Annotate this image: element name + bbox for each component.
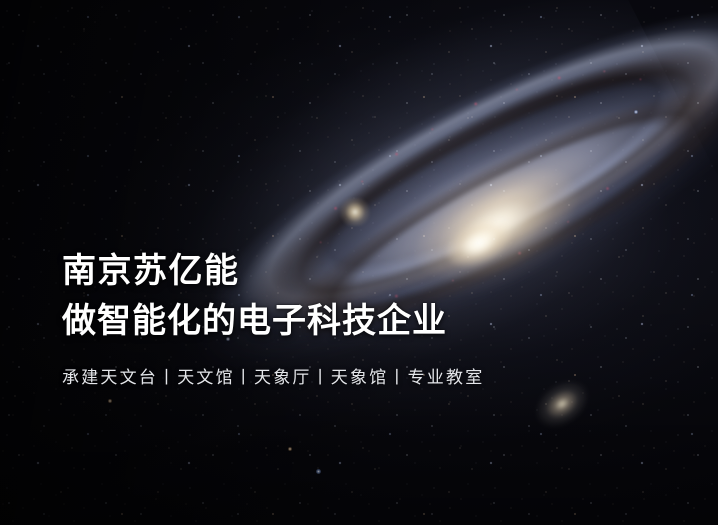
hero-headline-secondary: 做智能化的电子科技企业 <box>62 296 622 346</box>
hero-headline-primary: 南京苏亿能 <box>62 246 622 296</box>
bright-star-foreground <box>108 399 112 403</box>
bright-star-foreground <box>634 110 638 114</box>
hero-subtitle-services: 承建天文台丨天文馆丨天象厅丨天象馆丨专业教室 <box>62 366 622 390</box>
companion-galaxy-m32 <box>340 198 370 226</box>
bright-star-foreground <box>316 469 321 474</box>
bright-star-foreground <box>288 447 292 451</box>
hero-copy-block: 南京苏亿能 做智能化的电子科技企业 承建天文台丨天文馆丨天象厅丨天象馆丨专业教室 <box>62 246 622 390</box>
hero-banner: 南京苏亿能 做智能化的电子科技企业 承建天文台丨天文馆丨天象厅丨天象馆丨专业教室 <box>0 0 718 525</box>
